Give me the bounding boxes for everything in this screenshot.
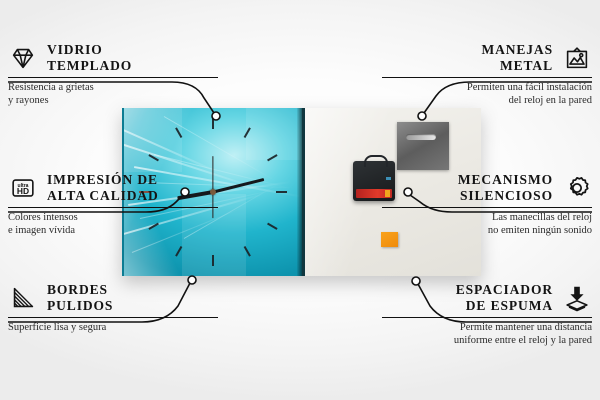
- feature-subtitle-line2: no emiten ningún sonido: [488, 225, 592, 236]
- feature-title-line2: ALTA CALIDAD: [47, 188, 159, 203]
- diamond-icon: [8, 43, 38, 73]
- feature-title-line1: VIDRIO: [47, 42, 103, 57]
- feature-impresion-alta-calidad[interactable]: ultra HD IMPRESIÓN DE ALTA CALIDAD Color…: [8, 172, 218, 237]
- feature-title-line1: MANEJAS: [481, 42, 553, 57]
- feature-title-line2: METAL: [500, 58, 553, 73]
- feature-title-line2: SILENCIOSO: [460, 188, 553, 203]
- divider: [382, 207, 592, 208]
- feature-subtitle-line1: Resistencia a grietas: [8, 82, 94, 93]
- divider: [8, 77, 218, 78]
- svg-text:HD: HD: [17, 186, 29, 196]
- ultra-hd-icon: ultra HD: [8, 173, 38, 203]
- feature-bordes-pulidos[interactable]: BORDES PULIDOS Superficie lisa y segura: [8, 282, 218, 335]
- divider: [382, 317, 592, 318]
- feature-subtitle-line1: Permite mantener una distancia: [460, 322, 592, 333]
- feature-title-line2: TEMPLADO: [47, 58, 132, 73]
- feature-subtitle-line2: e imagen vívida: [8, 225, 75, 236]
- polished-edge-icon: [8, 283, 38, 313]
- feature-subtitle-line2: uniforme entre el reloj y la pared: [454, 335, 592, 346]
- feature-subtitle-line1: Permiten una fácil instalación: [467, 82, 592, 93]
- picture-frame-hanging-icon: [562, 43, 592, 73]
- feature-title-line2: DE ESPUMA: [466, 298, 553, 313]
- divider: [8, 317, 218, 318]
- divider: [382, 77, 592, 78]
- feature-subtitle-line2: y rayones: [8, 95, 49, 106]
- feature-subtitle-line1: Superficie lisa y segura: [8, 322, 106, 333]
- feature-title-line1: IMPRESIÓN DE: [47, 172, 158, 187]
- feature-mecanismo-silencioso[interactable]: MECANISMO SILENCIOSO Las manecillas del …: [382, 172, 592, 237]
- clock-minute-hand: [213, 178, 264, 193]
- feature-vidrio-templado[interactable]: VIDRIO TEMPLADO Resistencia a grietas y …: [8, 42, 218, 107]
- metal-hanger-plate: [397, 122, 449, 170]
- feature-espaciador-espuma[interactable]: ESPACIADOR DE ESPUMA Permite mantener un…: [382, 282, 592, 347]
- feature-subtitle-line2: del reloj en la pared: [509, 95, 592, 106]
- feature-subtitle-line1: Colores intensos: [8, 212, 78, 223]
- feature-title-line2: PULIDOS: [47, 298, 113, 313]
- infographic-canvas: VIDRIO TEMPLADO Resistencia a grietas y …: [0, 0, 600, 400]
- divider: [8, 207, 218, 208]
- feature-subtitle-line1: Las manecillas del reloj: [492, 212, 592, 223]
- feature-title-line1: BORDES: [47, 282, 108, 297]
- feature-title-line1: MECANISMO: [458, 172, 553, 187]
- arrow-down-layers-icon: [562, 283, 592, 313]
- feature-title-line1: ESPACIADOR: [456, 282, 553, 297]
- gear-icon: [562, 173, 592, 203]
- feature-manejas-metal[interactable]: MANEJAS METAL Permiten una fácil instala…: [382, 42, 592, 107]
